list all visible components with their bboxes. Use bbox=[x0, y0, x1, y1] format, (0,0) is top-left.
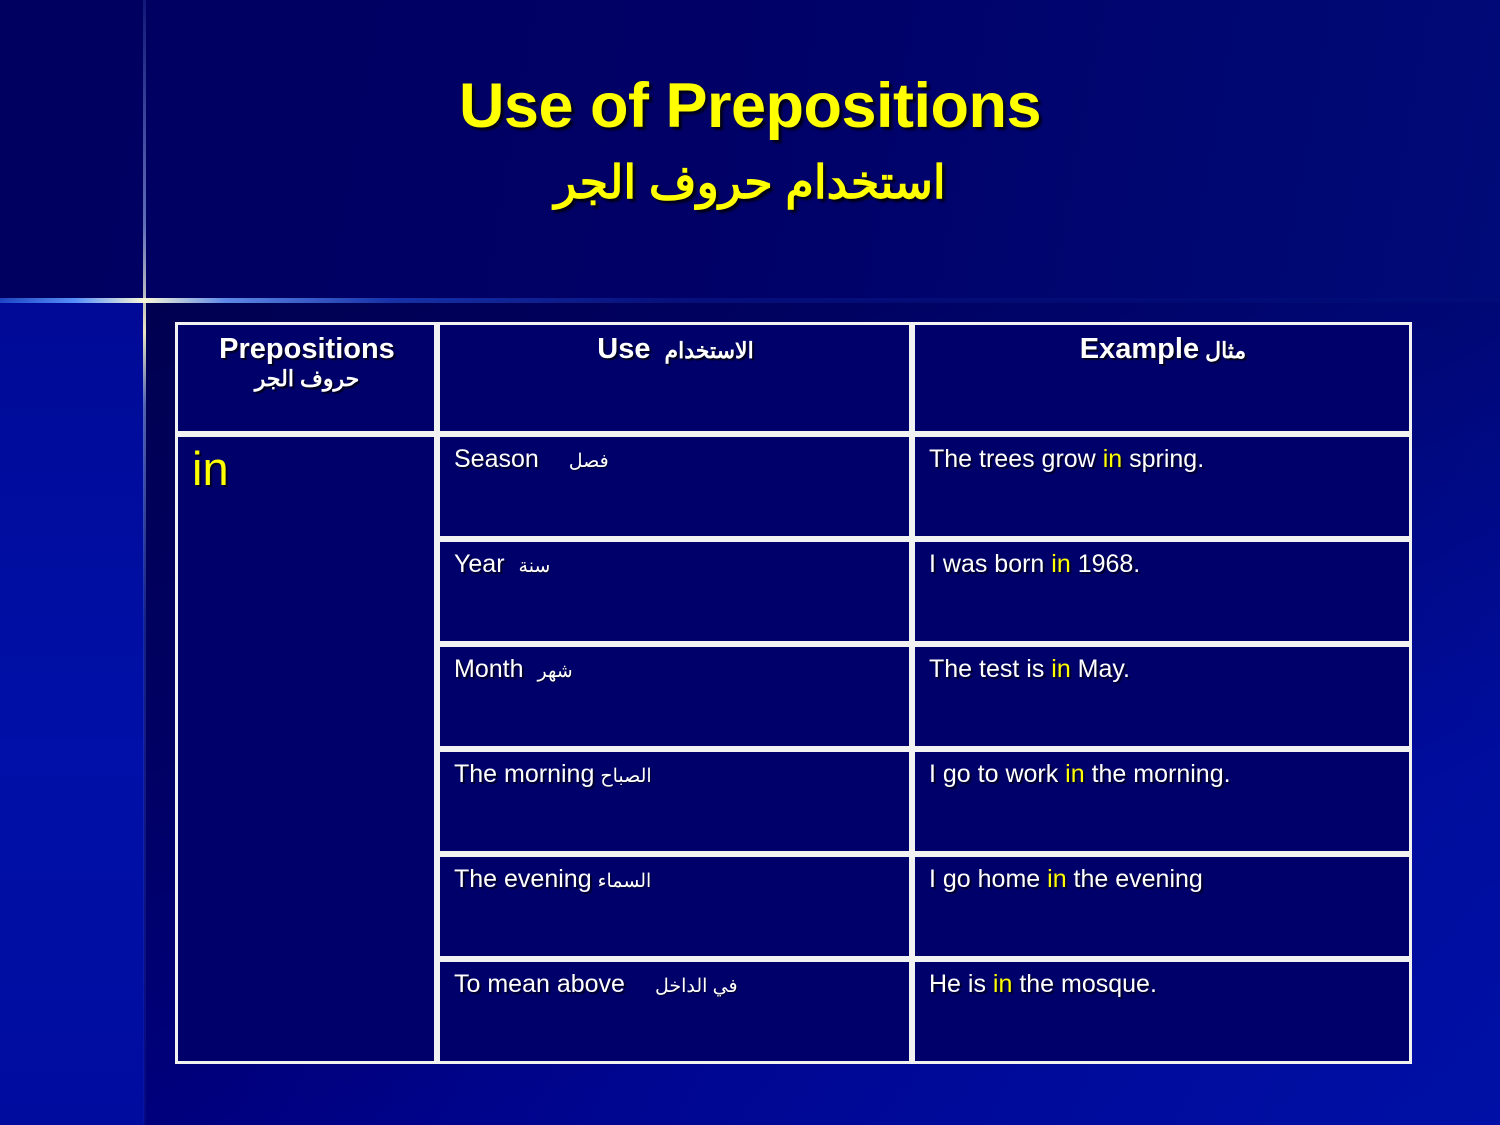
example-cell: I go home in the evening bbox=[912, 854, 1412, 959]
use-arabic: الصباح bbox=[600, 765, 651, 788]
example-before: The trees grow bbox=[929, 445, 1103, 473]
example-line: He is in the mosque. bbox=[929, 970, 1157, 998]
example-after: 1968. bbox=[1071, 550, 1141, 578]
example-line: The test is in May. bbox=[929, 655, 1130, 683]
example-before: I go to work bbox=[929, 760, 1065, 788]
use-arabic: سنة bbox=[519, 555, 551, 578]
header-cell-example: Exampleمثال bbox=[912, 322, 1412, 434]
slide-canvas: Use of Prepositions استخدام حروف الجر Pr… bbox=[0, 0, 1500, 1125]
example-line: I was born in 1968. bbox=[929, 550, 1140, 578]
preposition-cell: in bbox=[175, 434, 437, 1064]
example-highlight: in bbox=[993, 970, 1012, 998]
use-arabic: في الداخل bbox=[655, 975, 738, 998]
example-highlight: in bbox=[1065, 760, 1084, 788]
header-prepositions-en: Prepositions bbox=[192, 333, 422, 366]
header-example-en: Example bbox=[1080, 333, 1199, 365]
example-line: The trees grow in spring. bbox=[929, 445, 1204, 473]
preposition-word: in bbox=[192, 442, 229, 495]
prepositions-table: Prepositions حروف الجر Useالاستخدام Exam… bbox=[175, 322, 1412, 1064]
decorative-vertical-line bbox=[143, 0, 146, 1125]
header-example-ar: مثال bbox=[1205, 338, 1246, 363]
example-line: I go home in the evening bbox=[929, 865, 1203, 893]
example-highlight: in bbox=[1051, 550, 1070, 578]
example-highlight: in bbox=[1103, 445, 1122, 473]
example-before: The test is bbox=[929, 655, 1051, 683]
example-cell: The trees grow in spring. bbox=[912, 434, 1412, 539]
example-before: I go home bbox=[929, 865, 1047, 893]
use-english: Season bbox=[454, 445, 539, 473]
use-english: To mean above bbox=[454, 970, 625, 998]
header-prepositions-ar: حروف الجر bbox=[192, 366, 422, 392]
use-cell: Seasonفصل bbox=[437, 434, 912, 539]
example-after: the evening bbox=[1067, 865, 1203, 893]
use-cell: The morningالصباح bbox=[437, 749, 912, 854]
background-lower-left-band bbox=[0, 301, 144, 1125]
table-header-row: Prepositions حروف الجر Useالاستخدام Exam… bbox=[175, 322, 1412, 434]
header-use-ar: الاستخدام bbox=[664, 338, 753, 363]
use-cell: The eveningالسماء bbox=[437, 854, 912, 959]
example-highlight: in bbox=[1051, 655, 1070, 683]
header-cell-use: Useالاستخدام bbox=[437, 322, 912, 434]
use-arabic: شهر bbox=[537, 660, 572, 683]
example-highlight: in bbox=[1047, 865, 1066, 893]
example-after: the morning. bbox=[1085, 760, 1231, 788]
header-use-inline: Useالاستخدام bbox=[454, 333, 897, 366]
example-cell: He is in the mosque. bbox=[912, 959, 1412, 1064]
example-cell: I go to work in the morning. bbox=[912, 749, 1412, 854]
use-english: Month bbox=[454, 655, 523, 683]
use-cell: Yearسنة bbox=[437, 539, 912, 644]
use-english: The evening bbox=[454, 865, 592, 893]
use-english: Year bbox=[454, 550, 505, 578]
example-after: the mosque. bbox=[1012, 970, 1157, 998]
use-cell: To mean aboveفي الداخل bbox=[437, 959, 912, 1064]
background-upper bbox=[0, 0, 1500, 301]
header-example-inline: Exampleمثال bbox=[929, 333, 1397, 366]
use-arabic: السماء bbox=[598, 870, 652, 893]
header-use-en: Use bbox=[597, 333, 650, 365]
use-cell: Monthشهر bbox=[437, 644, 912, 749]
prepositions-table-wrapper: Prepositions حروف الجر Useالاستخدام Exam… bbox=[175, 322, 1412, 928]
example-cell: The test is in May. bbox=[912, 644, 1412, 749]
example-after: May. bbox=[1071, 655, 1130, 683]
example-cell: I was born in 1968. bbox=[912, 539, 1412, 644]
use-arabic: فصل bbox=[569, 450, 609, 473]
table-row: in Seasonفصل The trees grow in spring. bbox=[175, 434, 1412, 539]
decorative-horizontal-line bbox=[0, 298, 1500, 303]
example-line: I go to work in the morning. bbox=[929, 760, 1231, 788]
use-english: The morning bbox=[454, 760, 594, 788]
example-before: I was born bbox=[929, 550, 1051, 578]
example-before: He is bbox=[929, 970, 993, 998]
example-after: spring. bbox=[1122, 445, 1204, 473]
header-cell-prepositions: Prepositions حروف الجر bbox=[175, 322, 437, 434]
